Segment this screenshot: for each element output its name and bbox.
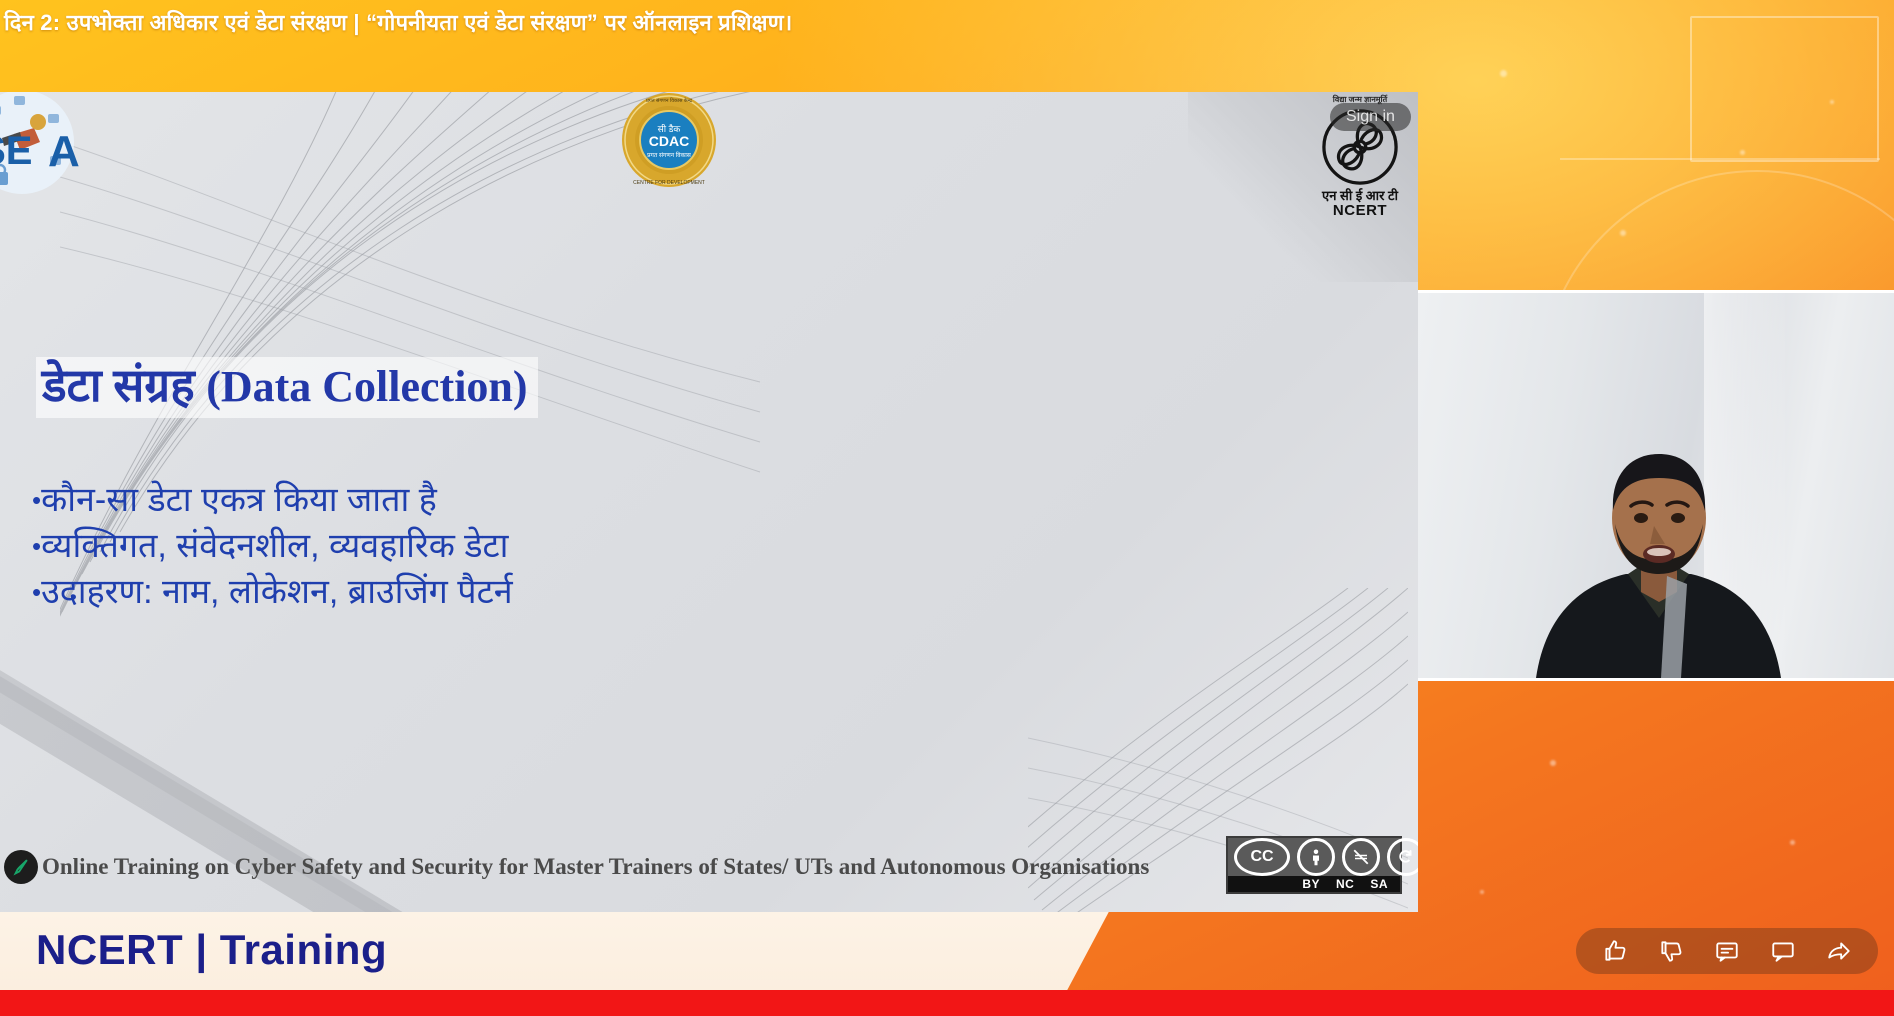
isea-logo: iSE A bbox=[0, 92, 82, 204]
slide-heading: डेटा संग्रह (Data Collection) bbox=[36, 357, 538, 418]
share-icon[interactable] bbox=[1826, 938, 1852, 964]
slide-footer-text: Online Training on Cyber Safety and Secu… bbox=[42, 854, 1149, 880]
list-item-text: उदाहरण: नाम, लोकेशन, ब्राउजिंग पैटर्न bbox=[41, 573, 512, 611]
slide-footer: Online Training on Cyber Safety and Secu… bbox=[0, 844, 1418, 890]
ncert-name-english: NCERT bbox=[1333, 203, 1387, 219]
cc-sa-icon bbox=[1387, 838, 1418, 876]
top-title-bar: दिन 2: उपभोक्ता अधिकार एवं डेटा संरक्षण … bbox=[0, 0, 1894, 44]
presenter-avatar bbox=[1491, 378, 1821, 678]
presenter-video-tile[interactable] bbox=[1418, 290, 1894, 681]
list-item-text: कौन-सा डेटा एकत्र किया जाता है bbox=[41, 481, 437, 519]
cc-nc-icon bbox=[1342, 838, 1380, 876]
dislike-icon[interactable] bbox=[1658, 938, 1684, 964]
svg-text:A: A bbox=[48, 127, 80, 176]
decorative-line bbox=[1560, 158, 1880, 160]
cc-term-sa: SA bbox=[1370, 877, 1388, 891]
like-icon[interactable] bbox=[1602, 938, 1628, 964]
presentation-slide[interactable]: iSE A सी डैक CDAC प्रगत संगणन विकास प्रग… bbox=[0, 92, 1418, 912]
list-item: •कौन-सा डेटा एकत्र किया जाता है bbox=[32, 477, 812, 523]
list-item: •उदाहरण: नाम, लोकेशन, ब्राउजिंग पैटर्न bbox=[32, 569, 812, 615]
slide-bullet-list: •कौन-सा डेटा एकत्र किया जाता है •व्यक्ति… bbox=[32, 477, 812, 616]
bullet-marker: • bbox=[32, 485, 41, 515]
cc-term-by: BY bbox=[1302, 877, 1320, 891]
slide-heading-english: (Data Collection) bbox=[206, 362, 527, 411]
cc-term-nc: NC bbox=[1336, 877, 1354, 891]
brand-title: NCERT | Training bbox=[36, 926, 387, 974]
bullet-marker: • bbox=[32, 531, 41, 561]
reaction-toolbar[interactable] bbox=[1576, 928, 1878, 974]
svg-text:प्रगत संगणन विकास केन्द्र: प्रगत संगणन विकास केन्द्र bbox=[646, 97, 692, 104]
bottom-red-bar bbox=[0, 990, 1894, 1016]
slide-heading-hindi: डेटा संग्रह bbox=[42, 360, 195, 411]
svg-text:CDAC: CDAC bbox=[649, 133, 689, 149]
session-title: दिन 2: उपभोक्ता अधिकार एवं डेटा संरक्षण … bbox=[0, 7, 792, 37]
chat-icon[interactable] bbox=[1770, 938, 1796, 964]
list-item-text: व्यक्तिगत, संवेदनशील, व्यवहारिक डेटा bbox=[41, 527, 508, 565]
cc-icon: CC bbox=[1234, 838, 1290, 876]
leaf-pen-icon bbox=[4, 850, 38, 884]
svg-text:CENTRE FOR DEVELOPMENT: CENTRE FOR DEVELOPMENT bbox=[633, 180, 705, 186]
sign-in-button[interactable]: Sign in bbox=[1330, 103, 1411, 131]
creative-commons-badge: CC BY NC SA bbox=[1226, 836, 1402, 894]
bullet-marker: • bbox=[32, 577, 41, 607]
svg-text:iSE: iSE bbox=[0, 129, 32, 173]
comment-icon[interactable] bbox=[1714, 938, 1740, 964]
list-item: •व्यक्तिगत, संवेदनशील, व्यवहारिक डेटा bbox=[32, 523, 812, 569]
cdac-logo: सी डैक CDAC प्रगत संगणन विकास प्रगत संगण… bbox=[619, 92, 719, 190]
svg-text:प्रगत संगणन विकास: प्रगत संगणन विकास bbox=[647, 151, 692, 159]
ncert-name-hindi: एन सी ई आर टी bbox=[1322, 189, 1398, 203]
cc-by-icon bbox=[1297, 838, 1335, 876]
